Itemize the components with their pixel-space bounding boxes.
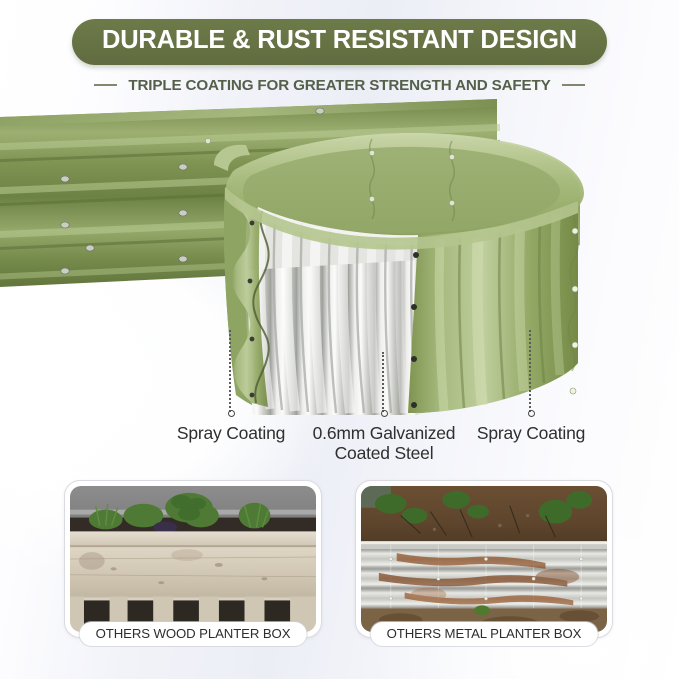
title-banner: DURABLE & RUST RESISTANT DESIGN [72, 19, 607, 65]
callout-label-center-line1: 0.6mm Galvanized [313, 423, 456, 443]
leader-line-icon [382, 352, 386, 412]
callout-label-left: Spray Coating [177, 424, 285, 444]
header: DURABLE & RUST RESISTANT DESIGN TRIPLE C… [0, 0, 679, 93]
comparison-row: OTHERS WOOD PLANTER BOX [0, 478, 679, 648]
page-subtitle: TRIPLE COATING FOR GREATER STRENGTH AND … [128, 78, 550, 93]
product-infographic: DURABLE & RUST RESISTANT DESIGN TRIPLE C… [0, 0, 679, 679]
leader-dot-icon [381, 410, 388, 417]
caption-metal-planter: OTHERS METAL PLANTER BOX [371, 622, 598, 646]
callout-label-center-line2: Coated Steel [335, 443, 434, 463]
product-illustration [0, 95, 679, 415]
photo-metal-planter [361, 486, 607, 632]
caption-wood-text: OTHERS WOOD PLANTER BOX [96, 626, 291, 641]
caption-metal-text: OTHERS METAL PLANTER BOX [387, 626, 582, 641]
callout-label-center: 0.6mm Galvanized Coated Steel [289, 424, 479, 463]
leader-dot-icon [528, 410, 535, 417]
dash-right-icon [562, 84, 585, 86]
caption-wood-planter: OTHERS WOOD PLANTER BOX [80, 622, 307, 646]
leader-dot-icon [228, 410, 235, 417]
leader-line-icon [529, 330, 533, 412]
dash-left-icon [94, 84, 117, 86]
subtitle-row: TRIPLE COATING FOR GREATER STRENGTH AND … [0, 78, 679, 93]
photo-wood-planter [70, 486, 316, 632]
comparison-card-metal: OTHERS METAL PLANTER BOX [355, 480, 613, 638]
comparison-card-wood: OTHERS WOOD PLANTER BOX [64, 480, 322, 638]
page-title: DURABLE & RUST RESISTANT DESIGN [102, 28, 577, 54]
callout-label-right: Spray Coating [477, 424, 585, 444]
leader-line-icon [229, 330, 233, 412]
